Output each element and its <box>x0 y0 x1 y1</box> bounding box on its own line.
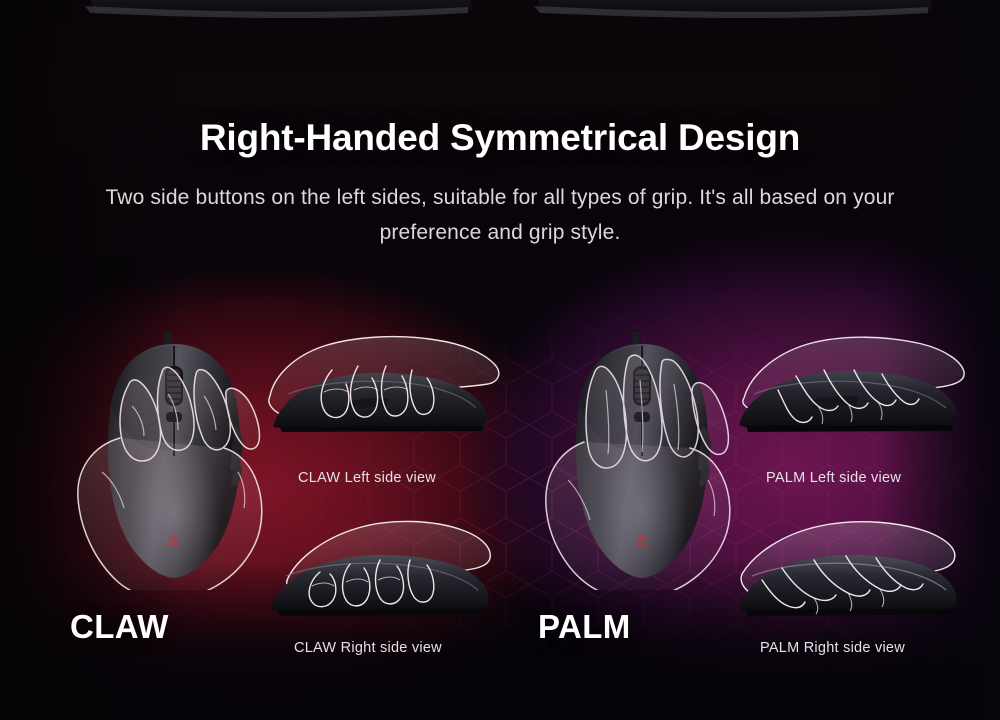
palm-left-side-view <box>726 332 971 444</box>
page-subtitle: Two side buttons on the left sides, suit… <box>72 180 928 250</box>
previous-section-strip <box>0 0 1000 26</box>
claw-right-side-view <box>258 516 503 628</box>
palm-grip-top-view: Ƨ <box>536 330 748 590</box>
promo-section: Right-Handed Symmetrical Design Two side… <box>0 0 1000 720</box>
grip-group-claw: Ƨ CLAW <box>42 320 512 690</box>
grip-group-palm: Ƨ PALM <box>510 320 988 690</box>
claw-left-side-view <box>258 332 503 444</box>
caption-palm-left: PALM Left side view <box>766 470 1000 486</box>
caption-palm-right: PALM Right side view <box>760 640 1000 656</box>
palm-right-side-view <box>726 516 971 628</box>
claw-grip-top-view: Ƨ <box>68 330 280 590</box>
page-title: Right-Handed Symmetrical Design <box>0 117 1000 159</box>
